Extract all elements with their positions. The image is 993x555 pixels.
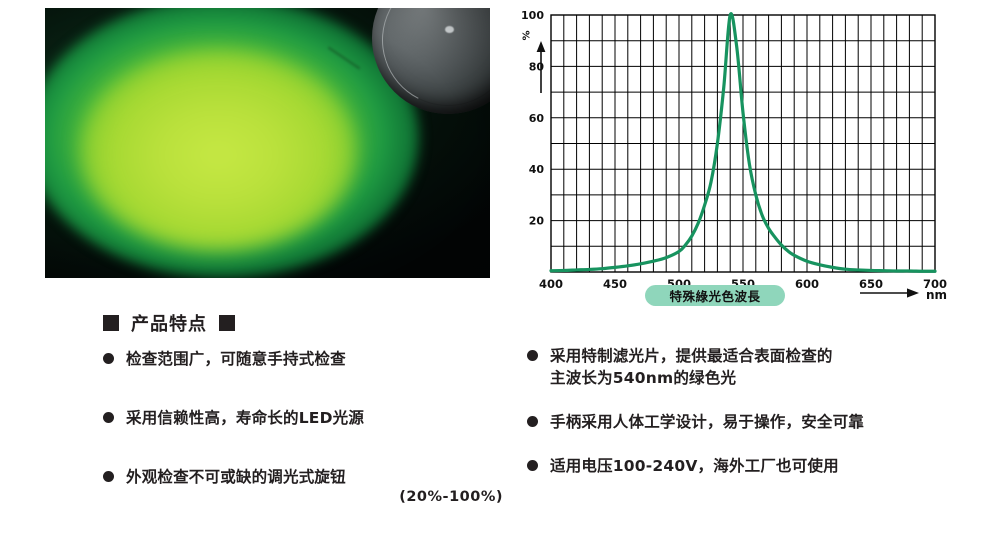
list-item: 检查范围广，可随意手持式检查 <box>103 348 503 370</box>
round-bullet-icon <box>103 353 114 364</box>
svg-text:450: 450 <box>603 277 627 291</box>
round-bullet-icon <box>103 471 114 482</box>
product-photo <box>45 8 490 278</box>
svg-text:100: 100 <box>521 9 544 22</box>
svg-text:60: 60 <box>529 112 545 125</box>
feature-text: 采用特制滤光片，提供最适合表面检查的 主波长为540nm的绿色光 <box>550 345 833 389</box>
svg-text:40: 40 <box>529 163 545 176</box>
round-bullet-icon <box>527 350 538 361</box>
list-item: 适用电压100-240V，海外工厂也可使用 <box>527 455 982 477</box>
feature-text: 手柄采用人体工学设计，易于操作，安全可靠 <box>550 411 864 433</box>
round-bullet-icon <box>103 412 114 423</box>
features-heading: 产品特点 <box>103 310 235 336</box>
feature-text: 检查范围广，可随意手持式检查 <box>126 348 346 370</box>
list-item: 采用特制滤光片，提供最适合表面检查的 主波长为540nm的绿色光 <box>527 345 982 389</box>
x-axis-unit-label: nm <box>926 288 947 302</box>
list-item: 采用信赖性高，寿命长的LED光源 <box>103 407 503 429</box>
feature-text: 适用电压100-240V，海外工厂也可使用 <box>550 455 839 477</box>
svg-text:80: 80 <box>529 60 545 73</box>
feature-text: 采用信赖性高，寿命长的LED光源 <box>126 407 364 429</box>
feature-text: 外观检查不可或缺的调光式旋钮 <box>126 468 346 486</box>
features-right-column: 采用特制滤光片，提供最适合表面检查的 主波长为540nm的绿色光 手柄采用人体工… <box>527 345 982 499</box>
y-axis-unit-label: % <box>522 30 533 40</box>
feature-note: (20%-100%) <box>126 489 503 505</box>
list-item: 外观检查不可或缺的调光式旋钮 (20%-100%) <box>103 466 503 505</box>
square-bullet-right-icon <box>219 315 235 331</box>
svg-text:20: 20 <box>529 215 545 228</box>
svg-text:600: 600 <box>795 277 819 291</box>
list-item: 手柄采用人体工学设计，易于操作，安全可靠 <box>527 411 982 433</box>
product-spec-page: 20406080100 400450500550600650700 % 特殊綠光… <box>0 0 993 555</box>
spectral-chart: 20406080100 400450500550600650700 % 特殊綠光… <box>512 0 982 312</box>
svg-text:400: 400 <box>539 277 563 291</box>
features-left-column: 检查范围广，可随意手持式检查 采用信赖性高，寿命长的LED光源 外观检查不可或缺… <box>103 348 503 542</box>
svg-text:650: 650 <box>859 277 883 291</box>
chart-gridlines <box>551 15 935 272</box>
chart-svg: 20406080100 400450500550600650700 <box>512 0 982 312</box>
photo-vignette <box>45 8 490 278</box>
wavelength-badge: 特殊綠光色波長 <box>645 285 785 306</box>
features-heading-text: 产品特点 <box>131 310 207 336</box>
round-bullet-icon <box>527 460 538 471</box>
square-bullet-left-icon <box>103 315 119 331</box>
round-bullet-icon <box>527 416 538 427</box>
